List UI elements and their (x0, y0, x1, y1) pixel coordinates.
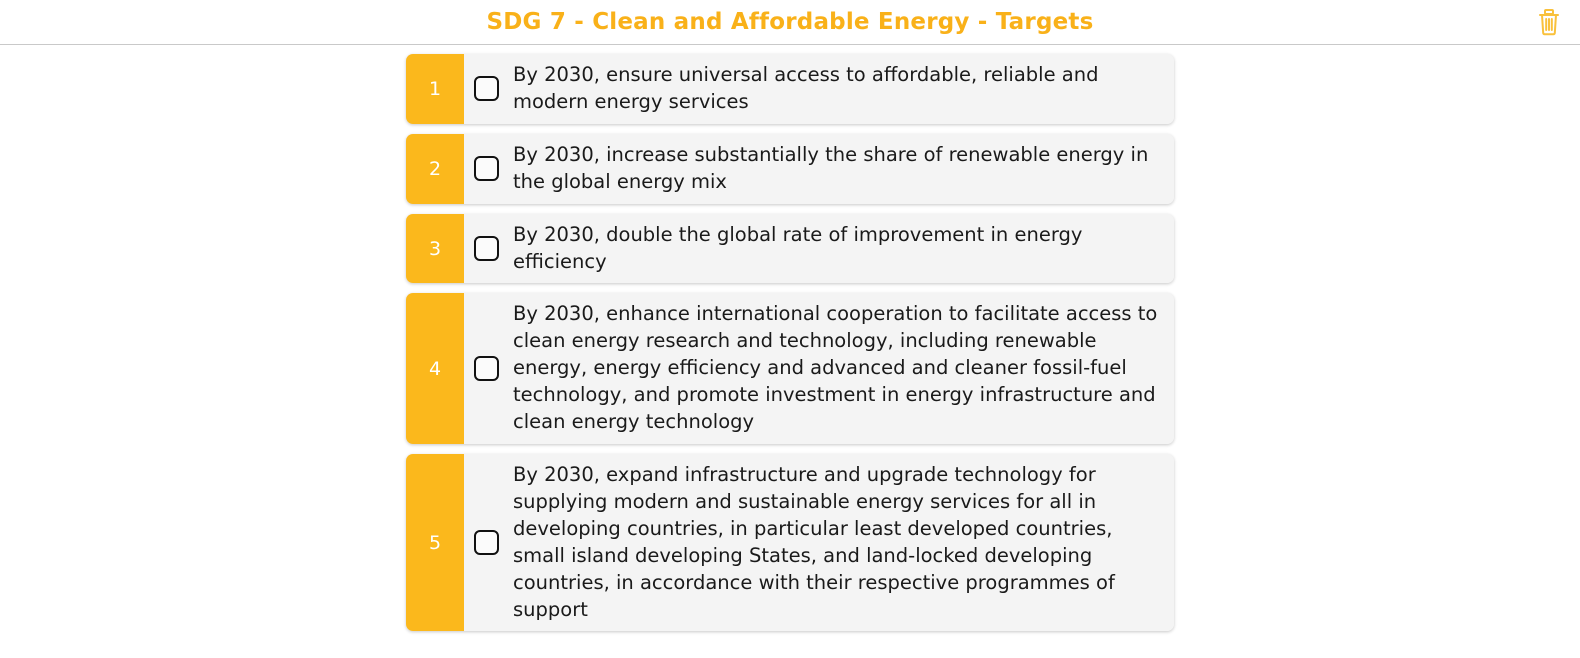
page-title: SDG 7 - Clean and Affordable Energy - Ta… (486, 11, 1093, 34)
target-body: By 2030, expand infrastructure and upgra… (464, 454, 1174, 631)
target-row: 3 By 2030, double the global rate of imp… (406, 214, 1174, 284)
target-checkbox[interactable] (474, 356, 499, 381)
target-row: 4 By 2030, enhance international coopera… (406, 293, 1174, 444)
target-checkbox[interactable] (474, 76, 499, 101)
targets-list: 1 By 2030, ensure universal access to af… (0, 45, 1580, 631)
target-checkbox[interactable] (474, 156, 499, 181)
trash-icon (1536, 8, 1562, 36)
target-number-badge: 2 (406, 134, 464, 204)
target-number-badge: 3 (406, 214, 464, 284)
target-text: By 2030, enhance international cooperati… (513, 301, 1166, 436)
target-checkbox[interactable] (474, 530, 499, 555)
target-number-badge: 5 (406, 454, 464, 631)
target-row: 2 By 2030, increase substantially the sh… (406, 134, 1174, 204)
target-body: By 2030, increase substantially the shar… (464, 134, 1174, 204)
target-checkbox[interactable] (474, 236, 499, 261)
target-body: By 2030, double the global rate of impro… (464, 214, 1174, 284)
target-body: By 2030, ensure universal access to affo… (464, 54, 1174, 124)
target-text: By 2030, increase substantially the shar… (513, 142, 1166, 196)
target-body: By 2030, enhance international cooperati… (464, 293, 1174, 444)
target-text: By 2030, ensure universal access to affo… (513, 62, 1166, 116)
target-row: 1 By 2030, ensure universal access to af… (406, 54, 1174, 124)
target-text: By 2030, double the global rate of impro… (513, 222, 1166, 276)
target-number-badge: 1 (406, 54, 464, 124)
page-header: SDG 7 - Clean and Affordable Energy - Ta… (0, 0, 1580, 45)
target-number-badge: 4 (406, 293, 464, 444)
delete-button[interactable] (1532, 5, 1566, 39)
target-text: By 2030, expand infrastructure and upgra… (513, 462, 1166, 623)
target-row: 5 By 2030, expand infrastructure and upg… (406, 454, 1174, 631)
sdg-targets-page: SDG 7 - Clean and Affordable Energy - Ta… (0, 0, 1580, 658)
